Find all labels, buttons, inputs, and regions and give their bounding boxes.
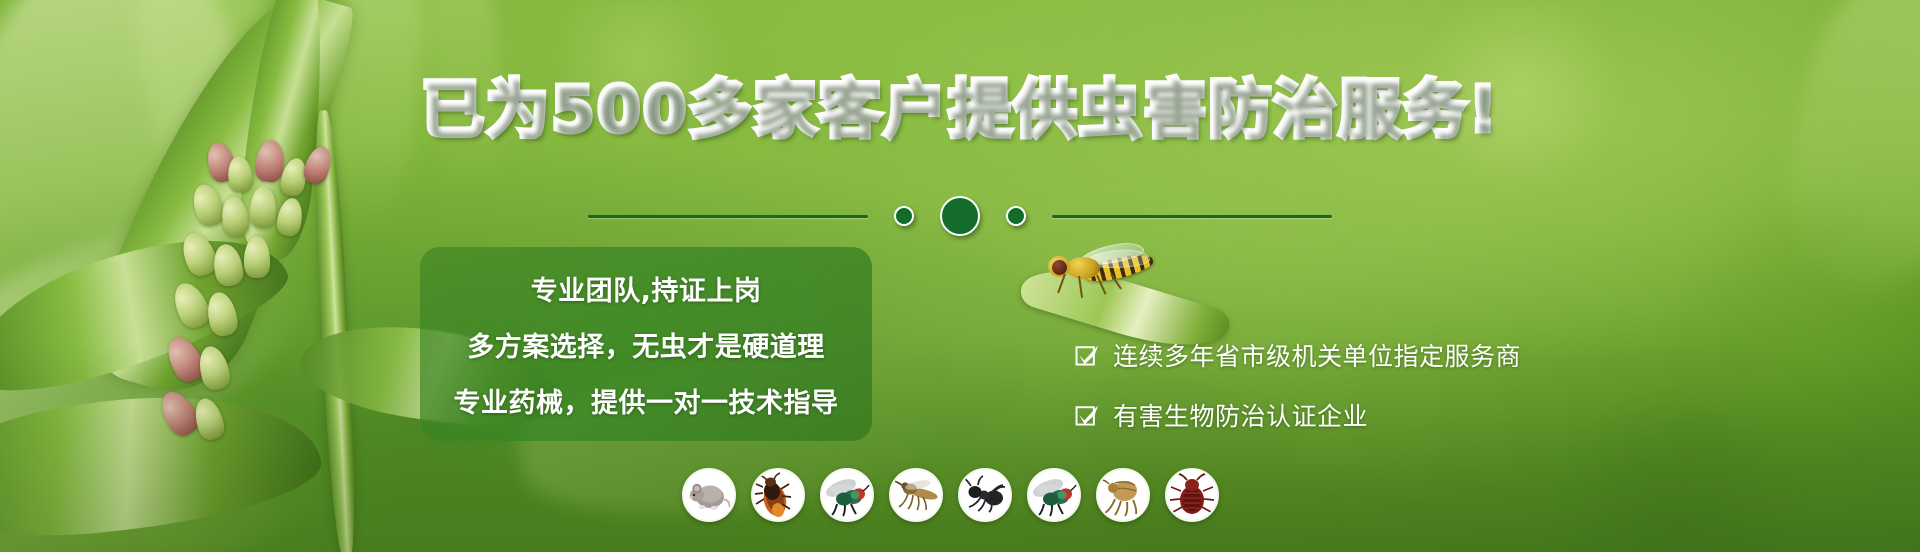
fly-eye xyxy=(1052,260,1067,275)
divider-dot-small-right xyxy=(1006,206,1026,226)
bedbug-icon xyxy=(1168,471,1216,519)
selling-point-line-3: 专业药械，提供一对一技术指导 xyxy=(454,381,839,420)
selling-point-line-2: 多方案选择，无虫才是硬道理 xyxy=(467,325,825,364)
divider-rule-left xyxy=(588,215,868,218)
pest-icon-blowfly[interactable] xyxy=(1027,468,1081,522)
credential-text: 有害生物防治认证企业 xyxy=(1113,397,1368,433)
credentials-list: 连续多年省市级机关单位指定服务商 有害生物防治认证企业 xyxy=(1075,337,1521,433)
divider-decoration xyxy=(0,196,1920,236)
divider-dot-small-left xyxy=(894,206,914,226)
banner-headline-text: 已为500多家客户提供虫害防治服务! xyxy=(421,73,1499,146)
banner-headline: 已为500多家客户提供虫害防治服务! xyxy=(0,78,1920,141)
list-item: 有害生物防治认证企业 xyxy=(1075,397,1521,433)
divider-rule-right xyxy=(1052,215,1332,218)
pest-icon-flea[interactable] xyxy=(1096,468,1150,522)
bud-cluster xyxy=(170,140,400,470)
selling-points-panel: 专业团队,持证上岗 多方案选择，无虫才是硬道理 专业药械，提供一对一技术指导 xyxy=(420,247,872,441)
pest-icon-fly[interactable] xyxy=(820,468,874,522)
fly-leg xyxy=(1078,276,1083,298)
credential-text: 连续多年省市级机关单位指定服务商 xyxy=(1113,337,1521,373)
fly-head xyxy=(1048,256,1070,277)
cockroach-icon xyxy=(754,471,802,519)
checkbox-checked-icon xyxy=(1075,343,1100,368)
ant-icon xyxy=(961,471,1009,519)
fly-thorax xyxy=(1066,257,1100,279)
blowfly-icon xyxy=(1030,471,1078,519)
pest-types-strip xyxy=(682,468,1219,522)
fly-icon xyxy=(823,471,871,519)
divider-dot-large xyxy=(940,196,980,236)
pest-control-hero-banner: 已为500多家客户提供虫害防治服务! 专业团队,持证上岗 多方案选择，无虫才是硬… xyxy=(0,0,1920,552)
pest-icon-mosquito[interactable] xyxy=(889,468,943,522)
mosquito-icon xyxy=(892,471,940,519)
pest-icon-ant[interactable] xyxy=(958,468,1012,522)
pest-icon-mouse[interactable] xyxy=(682,468,736,522)
checkbox-checked-icon xyxy=(1075,403,1100,428)
pest-icon-cockroach[interactable] xyxy=(751,468,805,522)
hoverfly-photo xyxy=(1040,248,1158,296)
selling-point-line-1: 专业团队,持证上岗 xyxy=(531,269,762,308)
pest-icon-bedbug[interactable] xyxy=(1165,468,1219,522)
flea-icon xyxy=(1099,471,1147,519)
list-item: 连续多年省市级机关单位指定服务商 xyxy=(1075,337,1521,373)
mouse-icon xyxy=(685,471,733,519)
